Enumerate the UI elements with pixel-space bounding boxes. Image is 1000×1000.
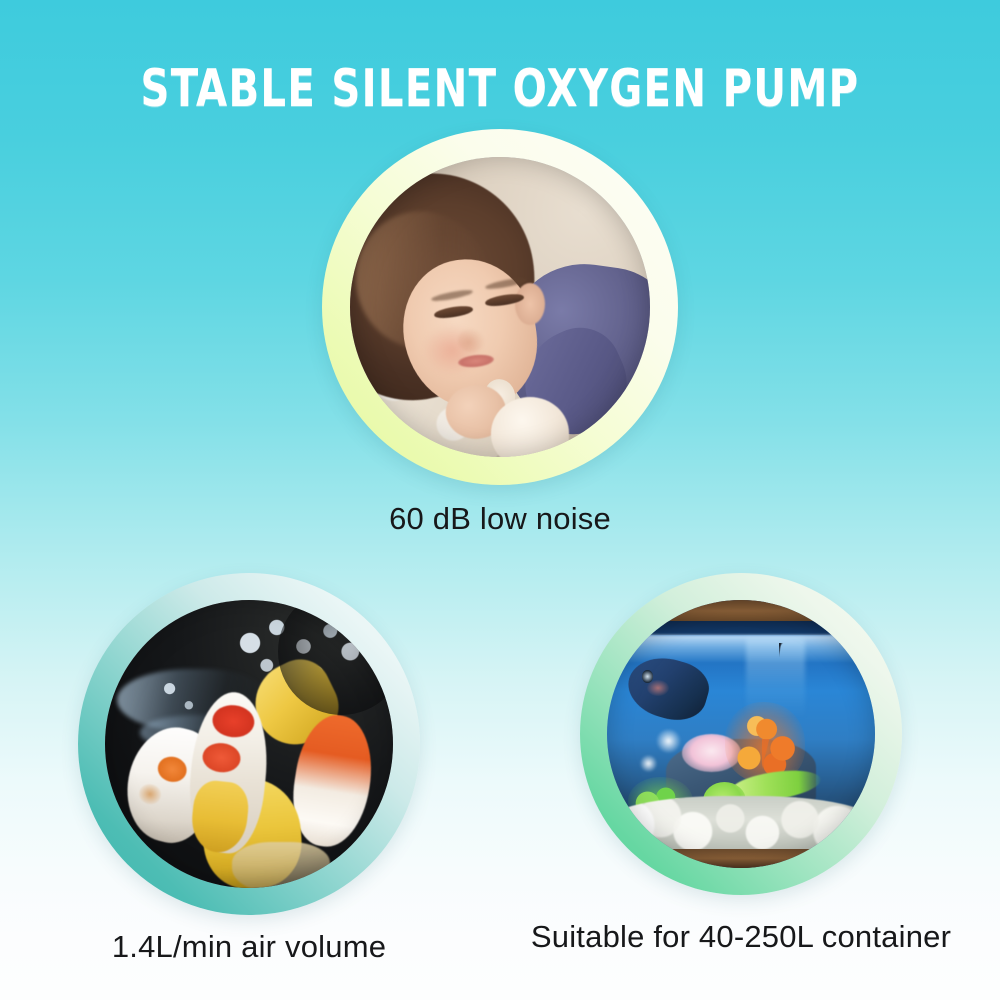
white-gravel-substrate	[607, 796, 875, 855]
feature-badge-noise: 60 dB low noise	[322, 129, 678, 485]
ring-noise	[322, 129, 678, 485]
light-sparkle	[655, 729, 682, 753]
pond-water	[105, 600, 393, 888]
product-feature-poster: STABLE SILENT OXYGEN PUMP	[0, 0, 1000, 1000]
caption-air-volume: 1.4L/min air volume	[112, 929, 386, 965]
page-title: STABLE SILENT OXYGEN PUMP	[141, 62, 860, 117]
feature-badge-air-volume: 1.4L/min air volume	[78, 573, 420, 915]
tank-light-bar	[623, 621, 859, 634]
sleeping-child-photo	[350, 157, 650, 457]
caption-noise: 60 dB low noise	[389, 501, 611, 537]
caption-container: Suitable for 40-250L container	[531, 919, 951, 955]
koi-tail-fin	[232, 842, 330, 888]
ring-air-volume	[78, 573, 420, 915]
bed-background	[350, 157, 650, 457]
feature-badge-container: Suitable for 40-250L container	[580, 573, 902, 895]
title-container: STABLE SILENT OXYGEN PUMP	[0, 62, 1000, 117]
tank-bottom-frame	[607, 849, 875, 868]
child-nose	[458, 328, 485, 352]
koi-pond-photo	[105, 600, 393, 888]
ring-container	[580, 573, 902, 895]
child-ear	[515, 283, 545, 325]
light-sparkle-secondary	[639, 755, 658, 771]
aquarium-water	[607, 600, 875, 868]
aquarium-tank-photo	[607, 600, 875, 868]
